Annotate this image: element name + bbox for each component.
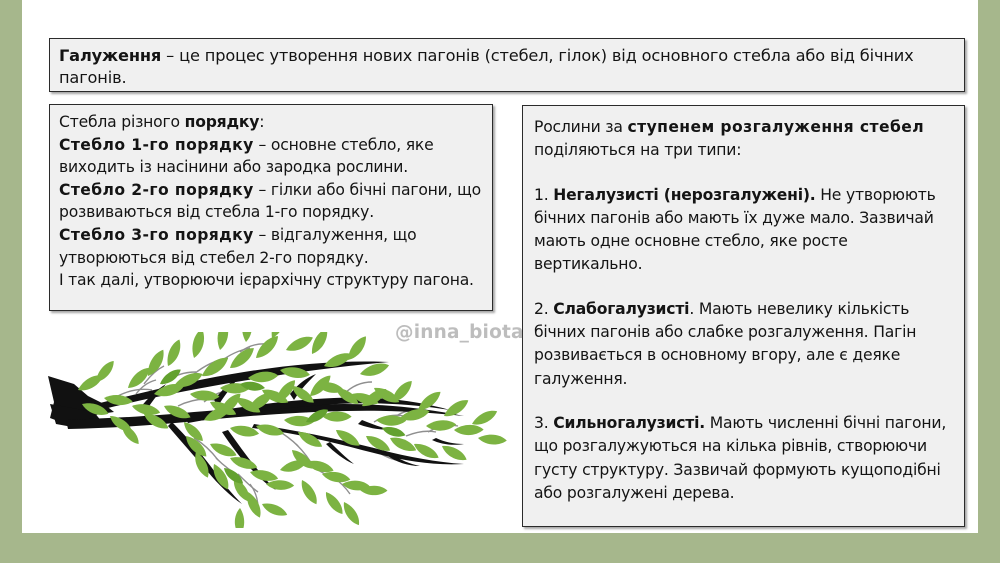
definition-term: Галуження: [59, 46, 161, 65]
type-item-3: 3. Сильногалузисті. Мають численні бічні…: [534, 412, 954, 505]
types-intro-plain-1: Рослини за: [534, 118, 628, 136]
types-intro-plain-2: поділяються на три типи:: [534, 141, 741, 159]
order-item-1-dash: –: [254, 136, 271, 154]
order-item-1: Стебло 1-го порядку – основне стебло, як…: [59, 134, 484, 179]
type-item-3-name: Сильногалузисті.: [553, 414, 705, 432]
orders-intro-bold: порядку: [185, 113, 260, 131]
types-intro-bold: ступенем розгалуження стебел: [628, 118, 925, 136]
slide-content-area: Галуження – це процес утворення нових па…: [22, 0, 978, 533]
leafy-branch-svg: [44, 332, 514, 528]
order-item-3-label: Стебло 3-го порядку: [59, 226, 254, 244]
leaves-group: [75, 332, 507, 528]
definition-dash: –: [161, 46, 179, 65]
order-item-1-label: Стебло 1-го порядку: [59, 136, 254, 154]
orders-intro-plain: Стебла різного: [59, 113, 185, 131]
type-item-3-number: 3.: [534, 414, 553, 432]
orders-intro: Стебла різного порядку:: [59, 111, 484, 134]
type-item-1-number: 1.: [534, 186, 553, 204]
order-item-3-dash: –: [254, 226, 271, 244]
type-item-1-name: Негалузисті (нерозгалужені).: [553, 186, 815, 204]
order-item-2: Стебло 2-го порядку – гілки або бічні па…: [59, 179, 484, 224]
types-intro: Рослини за ступенем розгалуження стебел …: [534, 116, 954, 163]
definition-text-box: Галуження – це процес утворення нових па…: [49, 38, 965, 92]
watermark-handle: @inna_biota: [395, 322, 524, 343]
slide: Галуження – це процес утворення нових па…: [0, 0, 1000, 563]
type-item-1: 1. Негалузисті (нерозгалужені). Не утвор…: [534, 184, 954, 277]
leafy-branch-illustration: [44, 332, 514, 528]
order-item-3: Стебло 3-го порядку – відгалуження, що у…: [59, 224, 484, 269]
branching-types-text-box: Рослини за ступенем розгалуження стебел …: [522, 105, 965, 527]
orders-intro-colon: :: [259, 113, 264, 131]
order-item-2-label: Стебло 2-го порядку: [59, 181, 254, 199]
orders-closing: І так далі, утворюючи ієрархічну структу…: [59, 269, 484, 292]
type-item-2-name: Слабогалузисті: [553, 300, 689, 318]
order-item-2-dash: –: [254, 181, 271, 199]
type-item-2-number: 2.: [534, 300, 553, 318]
stem-orders-text-box: Стебла різного порядку: Стебло 1-го поря…: [49, 104, 493, 311]
type-item-2: 2. Слабогалузисті. Мають невелику кількі…: [534, 298, 954, 391]
definition-text: це процес утворення нових пагонів (стебе…: [59, 46, 914, 87]
definition-paragraph: Галуження – це процес утворення нових па…: [59, 45, 955, 89]
